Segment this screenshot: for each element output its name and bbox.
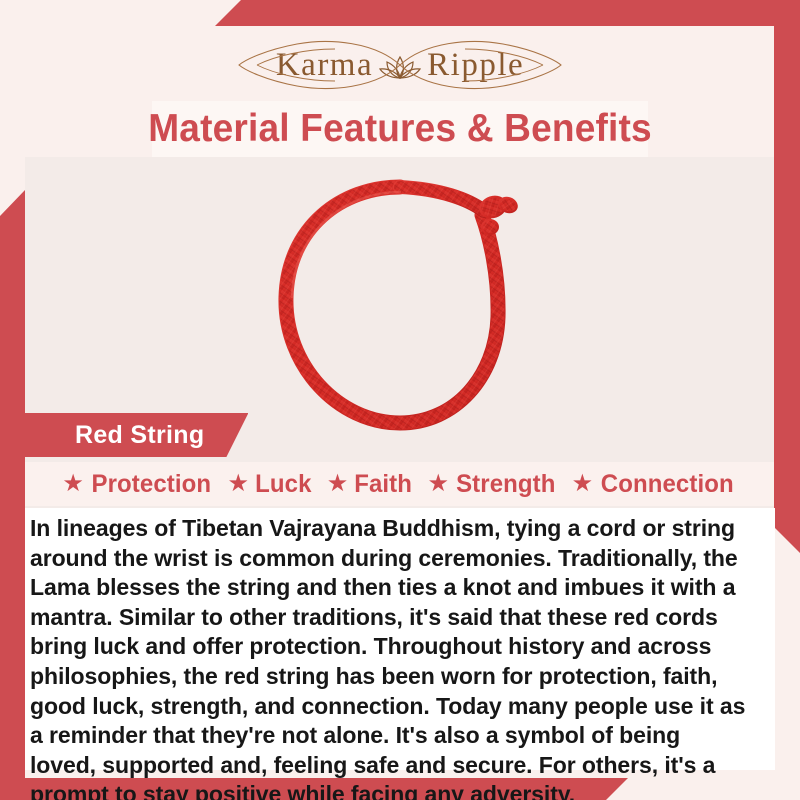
material-ribbon: Red String <box>25 413 248 457</box>
benefit-item: ★ Connection <box>572 470 737 499</box>
star-icon: ★ <box>228 472 250 496</box>
benefit-label: Luck <box>255 470 311 499</box>
material-name: Red String <box>75 421 204 450</box>
lotus-icon <box>379 47 421 83</box>
description-panel: In lineages of Tibetan Vajrayana Buddhis… <box>25 508 775 770</box>
decorative-band-left <box>0 190 25 780</box>
brand-logo-inner: Karma Ripple <box>276 47 524 83</box>
red-string-bracelet-image <box>250 165 550 465</box>
brand-logo: Karma Ripple <box>0 34 800 96</box>
benefit-item: ★ Luck <box>228 470 313 499</box>
star-icon: ★ <box>62 472 84 496</box>
star-icon: ★ <box>572 472 594 496</box>
star-icon: ★ <box>428 472 450 496</box>
infographic-page: Karma Ripple Material Features & Benefit… <box>0 0 800 800</box>
page-title-band: Material Features & Benefits <box>152 101 648 157</box>
decorative-band-top <box>215 0 800 26</box>
benefit-label: Connection <box>601 470 734 499</box>
page-title: Material Features & Benefits <box>148 107 652 151</box>
benefits-list: ★ Protection ★ Luck ★ Faith ★ Strength ★… <box>25 462 774 506</box>
benefit-label: Strength <box>456 470 555 499</box>
brand-name-right: Ripple <box>427 49 524 82</box>
benefit-item: ★ Faith <box>327 470 414 499</box>
benefit-label: Faith <box>355 470 413 499</box>
brand-name-left: Karma <box>276 49 373 82</box>
description-text: In lineages of Tibetan Vajrayana Buddhis… <box>30 514 746 800</box>
benefit-item: ★ Protection <box>62 470 213 499</box>
benefit-item: ★ Strength <box>428 470 558 499</box>
benefit-label: Protection <box>91 470 211 499</box>
star-icon: ★ <box>327 472 349 496</box>
